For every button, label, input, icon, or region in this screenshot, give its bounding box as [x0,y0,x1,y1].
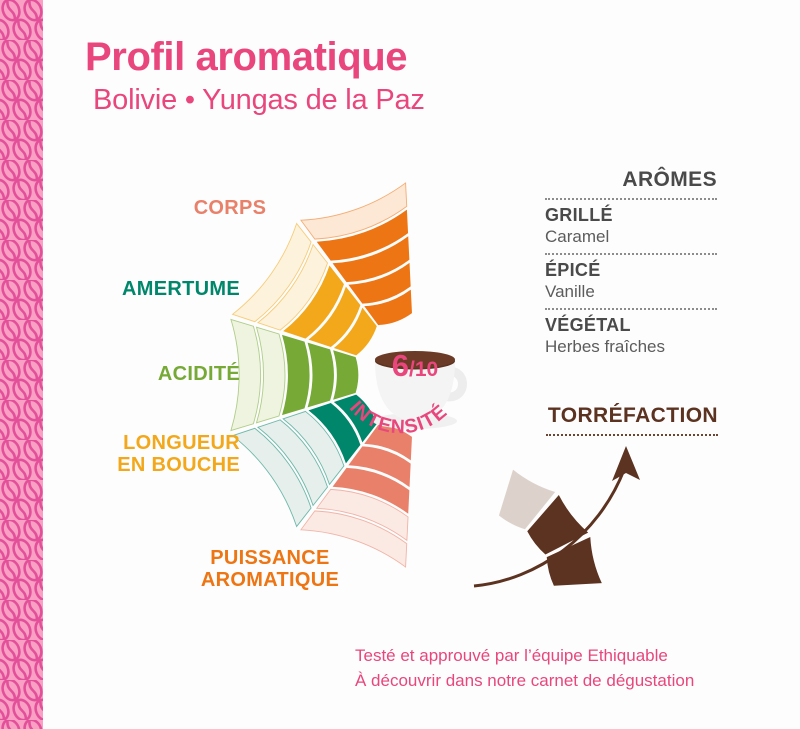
aroma-note: Vanille [545,282,717,302]
footer-line-1: Testé et approuvé par l’équipe Ethiquabl… [355,644,694,669]
wheel-ring-segment [282,335,309,415]
aroma-item: VÉGÉTAL Herbes fraîches [545,315,717,357]
infographic-canvas: Profil aromatique Bolivie • Yungas de la… [0,0,800,729]
axis-label-corps: CORPS [150,197,310,219]
axis-label-longueur-en-bouche: LONGUEUR EN BOUCHE [60,432,240,477]
arrow-head-icon [612,446,640,481]
axis-label-puissance-aromatique: PUISSANCE AROMATIQUE [165,547,375,592]
aroma-family: GRILLÉ [545,205,717,226]
roast-gauge-svg [468,440,718,590]
svg-text:INTENSITÉ: INTENSITÉ [345,397,452,438]
aroma-family: ÉPICÉ [545,260,717,281]
roast-title: TORRÉFACTION [548,404,718,428]
footer: Testé et approuvé par l’équipe Ethiquabl… [355,644,694,693]
bean-pattern-svg [0,0,43,729]
coffee-bean-pattern-stripe [0,0,43,729]
aromas-panel: ARÔMES GRILLÉ Caramel ÉPICÉ Vanille VÉGÉ… [545,168,717,357]
page-subtitle: Bolivie • Yungas de la Paz [93,84,425,117]
header: Profil aromatique Bolivie • Yungas de la… [85,36,425,117]
footer-line-2: À découvrir dans notre carnet de dégusta… [355,669,694,694]
divider [546,434,718,436]
intensity-label-text: INTENSITÉ [345,397,452,438]
aroma-item: GRILLÉ Caramel [545,205,717,247]
aroma-item: ÉPICÉ Vanille [545,260,717,302]
axis-label-amertume: AMERTUME [80,278,240,300]
divider [545,308,717,310]
intensity-arc-label: INTENSITÉ [330,370,470,450]
axis-label-acidite: ACIDITÉ [80,363,240,385]
page-title: Profil aromatique [85,36,425,78]
divider [545,198,717,200]
divider [545,253,717,255]
roast-section: TORRÉFACTION [468,404,718,584]
aromas-title: ARÔMES [545,168,717,192]
aroma-note: Herbes fraîches [545,337,717,357]
aroma-note: Caramel [545,227,717,247]
aroma-family: VÉGÉTAL [545,315,717,336]
